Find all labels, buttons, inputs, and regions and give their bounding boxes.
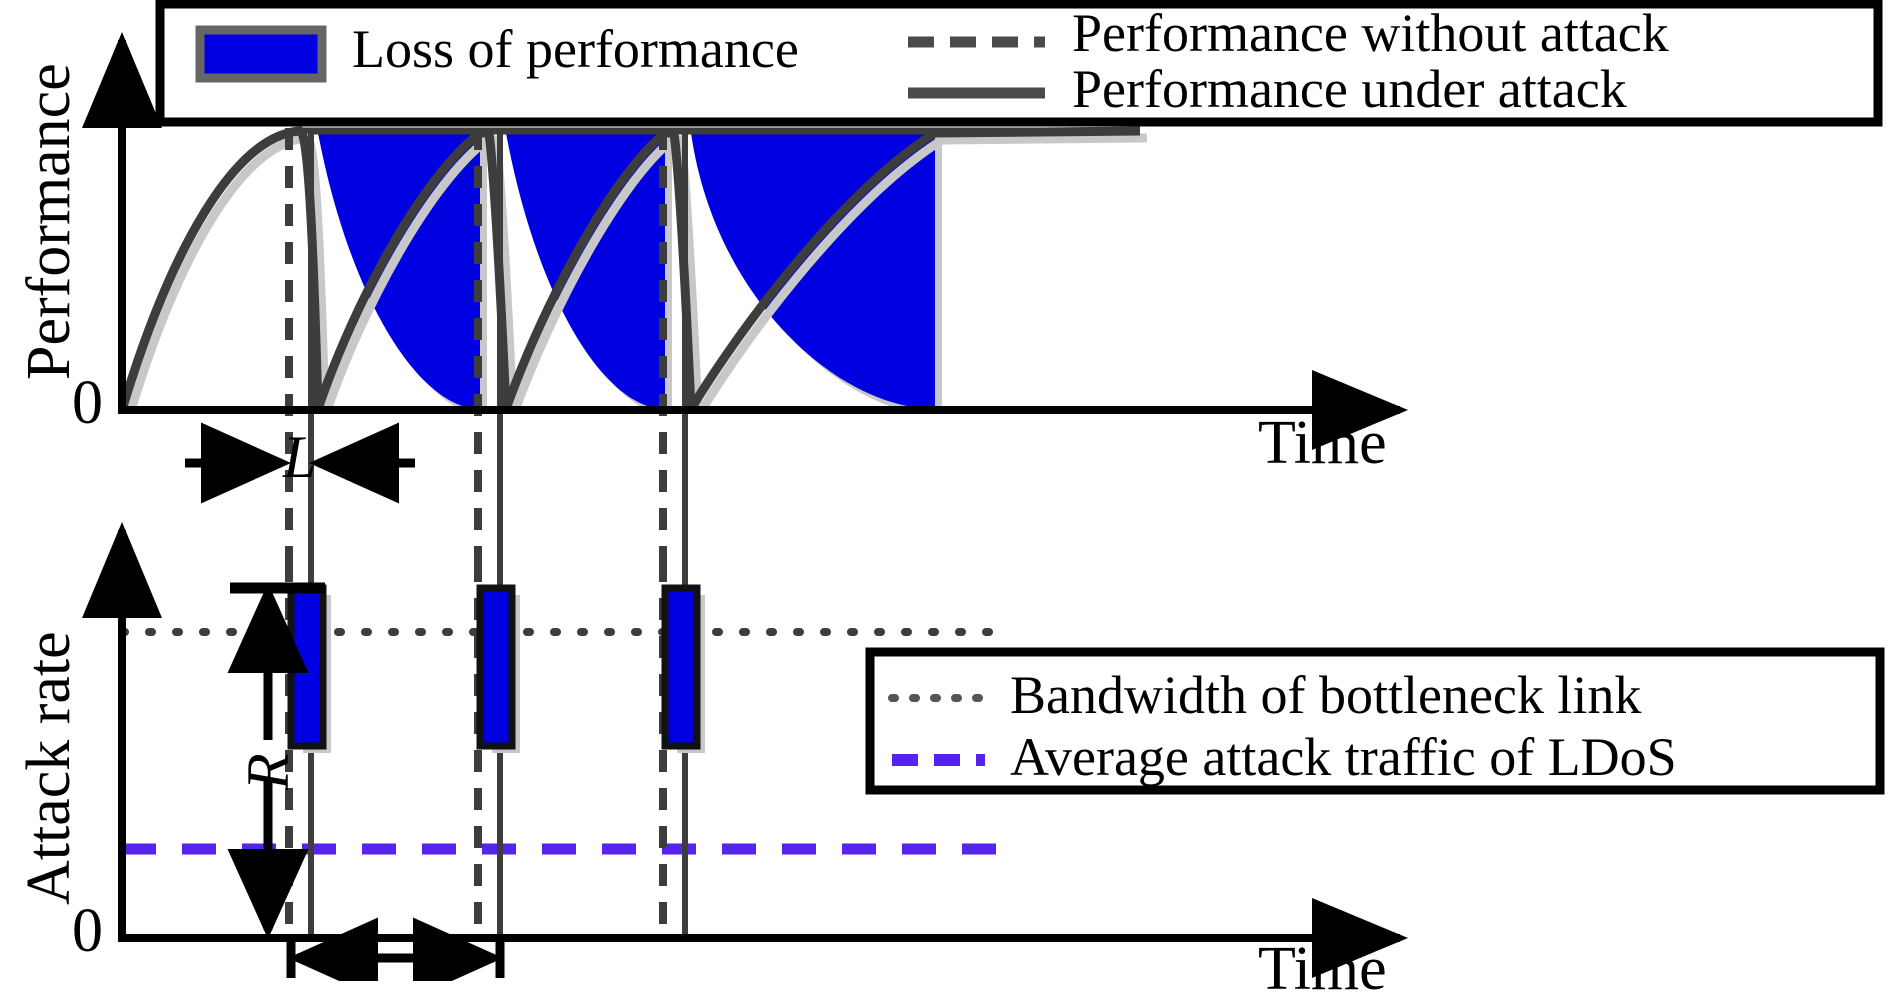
- legend-loss-swatch: [200, 30, 322, 78]
- top-y-axis-label: Performance: [18, 63, 80, 380]
- legend-item-performance-without-attack: Performance without attack: [1072, 6, 1669, 60]
- attack-bar-2: [480, 588, 512, 746]
- figure-canvas: [0, 0, 1890, 981]
- top-y-zero-label: 0: [72, 372, 103, 434]
- annotation-T-arrow: [291, 938, 500, 978]
- legend-item-bandwidth-of-bottleneck-link: Bandwidth of bottleneck link: [1010, 668, 1641, 722]
- bottom-x-axis-label: Time: [1258, 938, 1387, 1000]
- top-x-axis-label: Time: [1258, 412, 1387, 474]
- bottom-attack-marker-lines: [289, 560, 663, 940]
- loss-of-performance-areas: [300, 133, 935, 409]
- bottom-y-zero-label: 0: [72, 900, 103, 962]
- attack-bar-1: [291, 588, 323, 746]
- figure-root: Loss of performance Performance without …: [0, 0, 1890, 981]
- legend-item-loss-of-performance: Loss of performance: [352, 22, 799, 76]
- attack-rate-bars: [291, 588, 705, 753]
- bottom-y-axis-label: Attack rate: [18, 631, 80, 905]
- top-panel-plot: [122, 131, 1147, 417]
- annotation-R-label: R: [238, 753, 298, 790]
- attack-bar-3: [665, 588, 697, 746]
- annotation-T-label: T: [412, 925, 445, 985]
- annotation-L-label: L: [283, 427, 316, 487]
- legend-item-performance-under-attack: Performance under attack: [1072, 62, 1627, 116]
- legend-item-average-attack-traffic: Average attack traffic of LDoS: [1010, 730, 1677, 784]
